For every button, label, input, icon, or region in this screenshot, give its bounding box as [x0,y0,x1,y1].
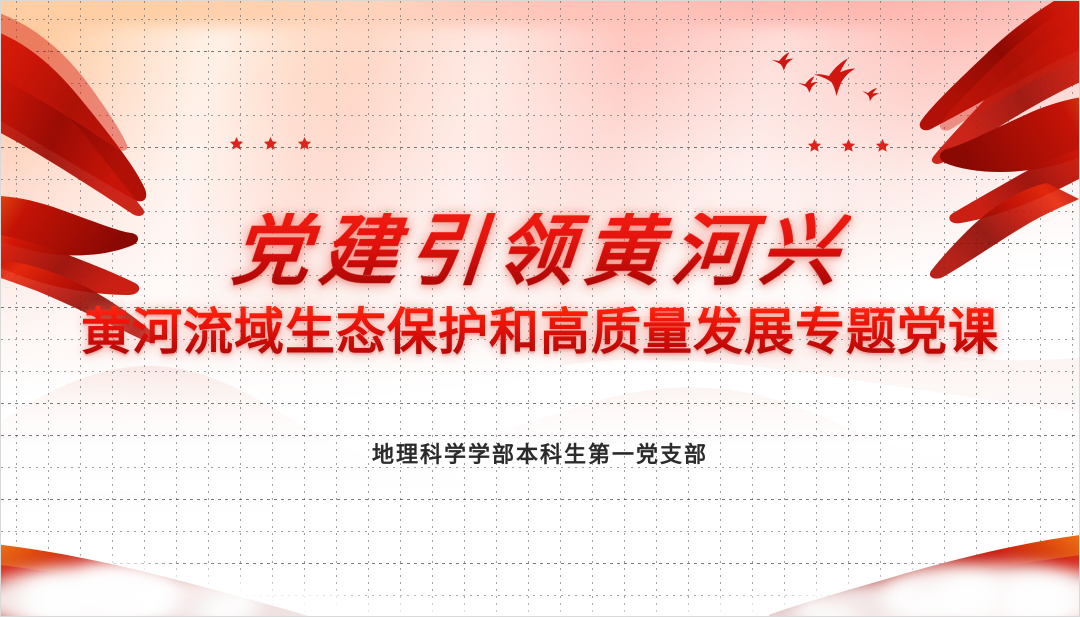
sub-title: 黄河流域生态保护和高质量发展专题党课 [81,305,999,359]
main-title: 党建引领黄河兴 [229,213,852,291]
poster-canvas: 党建引领黄河兴 黄河流域生态保护和高质量发展专题党课 地理科学学部本科生第一党支… [0,0,1080,617]
organization-name: 地理科学学部本科生第一党支部 [372,437,708,469]
text-content-block: 党建引领黄河兴 黄河流域生态保护和高质量发展专题党课 地理科学学部本科生第一党支… [1,1,1079,616]
